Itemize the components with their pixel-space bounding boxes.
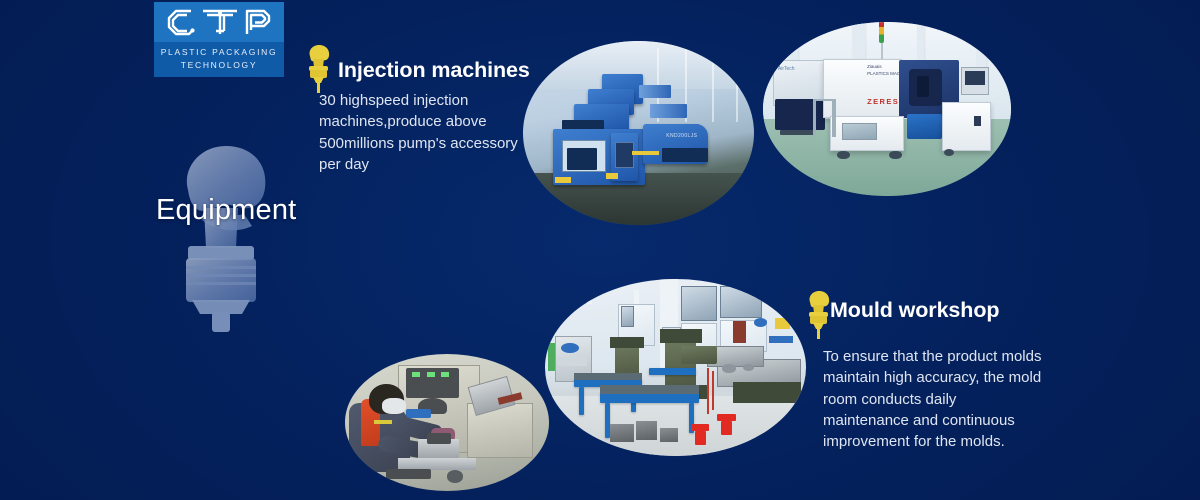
injection-machine-row-photo: KND200LJS — [523, 41, 754, 225]
feature-body-mould-workshop: To ensure that the product molds maintai… — [823, 346, 1045, 452]
feature-body-injection-machines: 30 highspeed injection machines,produce … — [319, 90, 519, 175]
zeres-machine-photo: AirTech 4 ZiauaisPLASTICS MACHINERY ZERE… — [763, 22, 1011, 196]
company-logo: PLASTIC PACKAGING TECHNOLOGY — [154, 2, 284, 77]
feature-heading-mould-workshop: Mould workshop — [830, 298, 999, 323]
logo-mark-ctp — [154, 2, 284, 42]
station-number-badge: 4 — [763, 22, 776, 35]
pump-dispenser-bullet-icon — [803, 288, 833, 340]
page-title: Equipment — [156, 194, 296, 227]
mold-workshop-photo — [545, 279, 806, 456]
pump-dispenser-icon — [152, 128, 282, 338]
mold-worker-photo — [345, 354, 549, 491]
equipment-banner: PLASTIC PACKAGING TECHNOLOGY — [0, 0, 1200, 500]
machine-label-zeres: ZERES — [867, 97, 899, 106]
pump-dispenser-bullet-icon — [303, 42, 333, 94]
logo-tagline-line1: PLASTIC PACKAGING — [156, 46, 282, 59]
logo-tagline-line2: TECHNOLOGY — [156, 59, 282, 72]
logo-tagline: PLASTIC PACKAGING TECHNOLOGY — [154, 42, 284, 77]
feature-heading-injection-machines: Injection machines — [338, 58, 530, 83]
